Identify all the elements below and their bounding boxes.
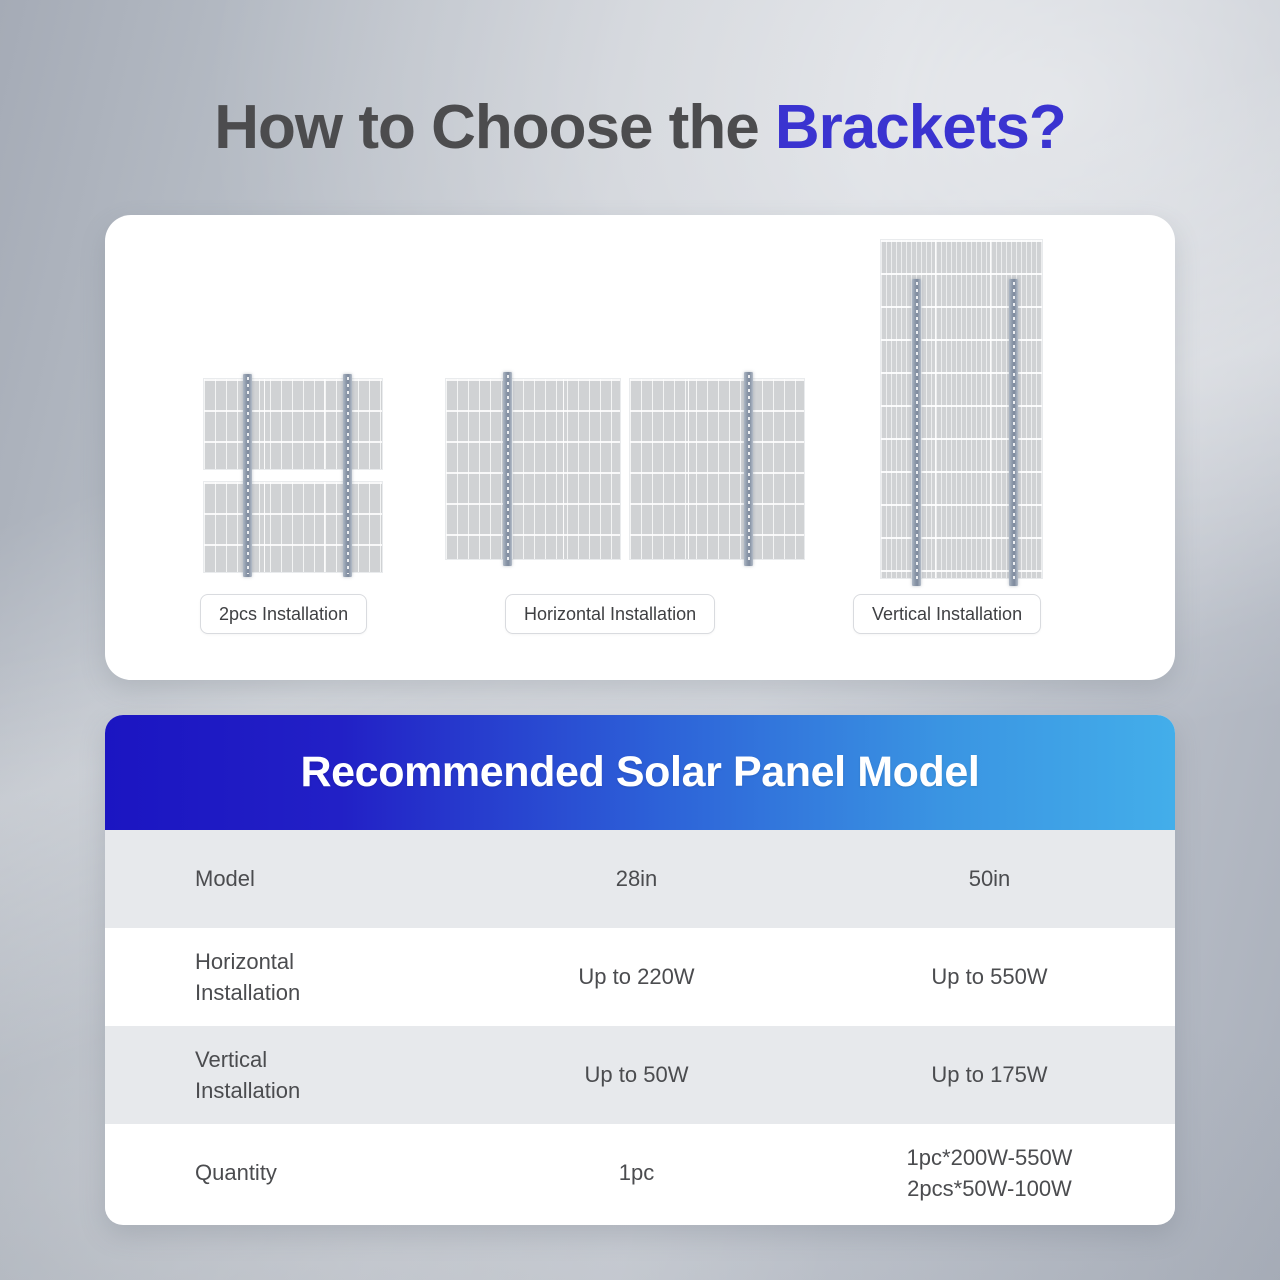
panel-busbar	[264, 482, 265, 572]
panel-busbar	[563, 379, 564, 559]
table-header-banner: Recommended Solar Panel Model	[105, 715, 1175, 830]
table-cell-50in: 50in	[818, 863, 1161, 894]
mounting-rail-left	[503, 372, 512, 566]
table-cell-50in-line1: 1pc*200W-550W	[818, 1142, 1161, 1173]
panel-busbar	[264, 379, 265, 469]
panel-cell-lines-horizontal	[630, 379, 804, 559]
panel-cell-lines-horizontal	[204, 379, 382, 469]
solar-panel-left-half	[445, 378, 621, 560]
table-cell-label-line2: Installation	[195, 1075, 465, 1106]
page-title: How to Choose the Brackets?	[0, 92, 1280, 163]
caption-label: Vertical Installation	[872, 604, 1022, 624]
table-cell-28in: Up to 50W	[465, 1059, 808, 1090]
table-cell-label: Model	[105, 863, 465, 894]
table-row: Vertical Installation Up to 50W Up to 17…	[105, 1026, 1175, 1124]
panel-cell-lines-horizontal	[446, 379, 620, 559]
mounting-rail-left	[912, 279, 921, 586]
table-cell-50in: Up to 550W	[818, 961, 1161, 992]
caption-horizontal-installation: Horizontal Installation	[505, 594, 715, 634]
table-row: Quantity 1pc 1pc*200W-550W 2pcs*50W-100W	[105, 1124, 1175, 1222]
caption-label: Horizontal Installation	[524, 604, 696, 624]
table-cell-label-line1: Vertical	[195, 1044, 465, 1075]
solar-panel-portrait	[880, 239, 1043, 579]
table-cell-50in: 1pc*200W-550W 2pcs*50W-100W	[818, 1142, 1161, 1204]
table-cell-28in: Up to 220W	[465, 961, 808, 992]
mounting-rail-right	[1009, 279, 1018, 586]
mounting-rail-right	[744, 372, 753, 566]
mounting-rail-left	[243, 374, 252, 577]
table-cell-50in: Up to 175W	[818, 1059, 1161, 1090]
recommended-panel-table-card: Recommended Solar Panel Model Model 28in…	[105, 715, 1175, 1225]
table-cell-label-line2: Installation	[195, 977, 465, 1008]
panel-busbar	[324, 482, 325, 572]
table-cell-28in: 28in	[465, 863, 808, 894]
table-row: Horizontal Installation Up to 220W Up to…	[105, 928, 1175, 1026]
table-cell-50in-line2: 2pcs*50W-100W	[818, 1173, 1161, 1204]
table-cell-label: Quantity	[105, 1157, 465, 1188]
caption-label: 2pcs Installation	[219, 604, 348, 624]
solar-panel-bottom	[203, 481, 383, 573]
solar-panel-top	[203, 378, 383, 470]
table-row: Model 28in 50in	[105, 830, 1175, 928]
illustration-horizontal-installation	[445, 378, 805, 560]
panel-busbar	[688, 379, 689, 559]
panel-busbar	[935, 240, 936, 578]
page-title-accent: Brackets?	[775, 93, 1066, 162]
caption-2pcs-installation: 2pcs Installation	[200, 594, 367, 634]
panel-cell-lines-horizontal	[204, 482, 382, 572]
panel-busbar	[990, 240, 991, 578]
solar-panel-right-half	[629, 378, 805, 560]
table-cell-label: Horizontal Installation	[105, 946, 465, 1008]
mounting-rail-right	[343, 374, 352, 577]
caption-vertical-installation: Vertical Installation	[853, 594, 1041, 634]
illustration-vertical-installation	[880, 239, 1043, 579]
page-title-main: How to Choose the	[214, 93, 775, 162]
illustration-2pcs-installation	[203, 378, 383, 573]
table-cell-label: Vertical Installation	[105, 1044, 465, 1106]
installation-illustrations-card: 2pcs Installation Horizontal Installatio…	[105, 215, 1175, 680]
table-header-title: Recommended Solar Panel Model	[301, 748, 980, 797]
table-cell-28in: 1pc	[465, 1157, 808, 1188]
table-cell-label-line1: Horizontal	[195, 946, 465, 977]
panel-busbar	[324, 379, 325, 469]
